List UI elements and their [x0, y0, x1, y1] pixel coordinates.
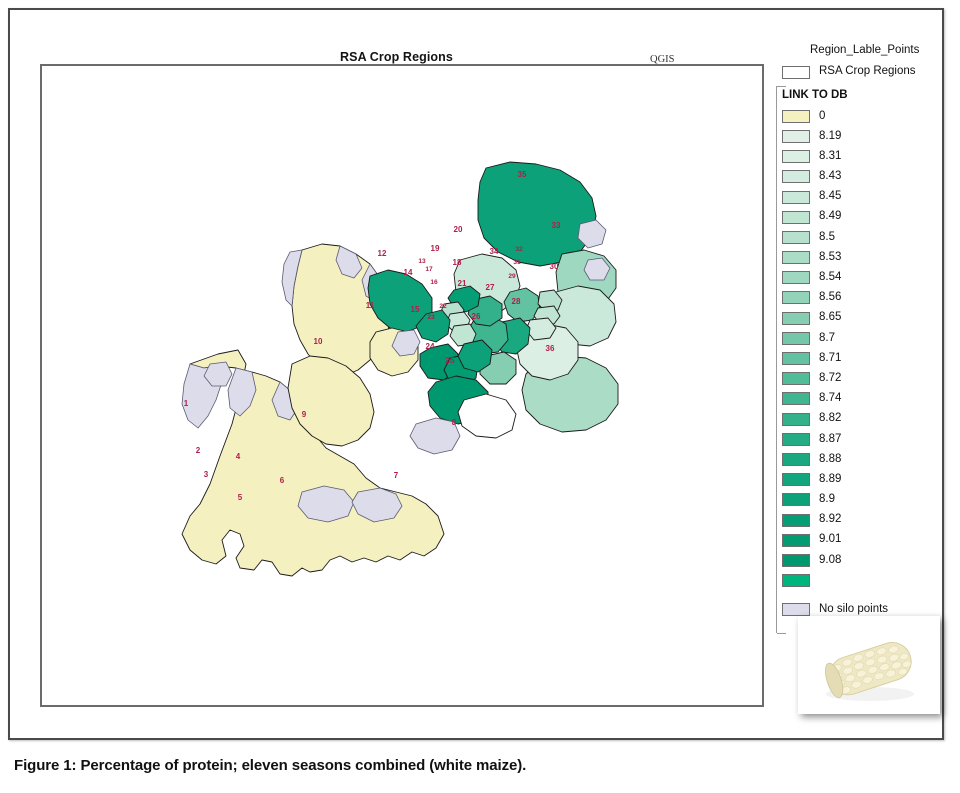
- region-number-label: 2: [196, 446, 201, 455]
- region-number-label: 27: [486, 283, 495, 292]
- legend-row-class[interactable]: 8.43: [782, 167, 956, 187]
- region-number-label: 9: [302, 410, 307, 419]
- region-number-label: 10: [314, 337, 323, 346]
- legend-label-class: 8.53: [819, 252, 841, 264]
- maize-cob-illustration: [798, 616, 940, 714]
- legend-label-class: 9.01: [819, 534, 841, 546]
- legend-label-class: 8.72: [819, 373, 841, 385]
- legend-label-class: 8.45: [819, 191, 841, 203]
- legend-label-class: 8.74: [819, 393, 841, 405]
- legend-label-class: 8.49: [819, 211, 841, 223]
- region-number-label: 14: [404, 268, 413, 277]
- legend-row-class[interactable]: 8.88: [782, 449, 956, 469]
- legend-classification-header: LINK TO DB: [782, 89, 956, 101]
- region-number-label: 21: [458, 279, 467, 288]
- legend-row-class[interactable]: 8.7: [782, 328, 956, 348]
- legend-row-class[interactable]: 9.01: [782, 530, 956, 550]
- legend-label-rsa-crop-regions: RSA Crop Regions: [819, 66, 916, 78]
- legend-row-class[interactable]: 9.08: [782, 550, 956, 570]
- map-legend: Region_Lable_Points RSA Crop Regions LIN…: [776, 44, 956, 620]
- legend-title: Region_Lable_Points: [810, 44, 956, 56]
- legend-row-class[interactable]: 8.87: [782, 429, 956, 449]
- south-africa-crop-regions-map[interactable]: .p{stroke:#1a1a1a;stroke-width:.9;stroke…: [40, 64, 764, 707]
- legend-row-class[interactable]: 8.5: [782, 227, 956, 247]
- region-number-label: 28: [512, 297, 521, 306]
- region-number-label: 22: [439, 303, 447, 310]
- legend-tree-connector: [776, 86, 787, 633]
- region-number-label: 30: [550, 262, 559, 271]
- region-number-label: 7: [394, 471, 399, 480]
- region-number-label: 17: [425, 266, 433, 273]
- region-number-label: 8: [452, 418, 457, 427]
- legend-label-class: 8.92: [819, 514, 841, 526]
- region-number-label: 29: [508, 273, 516, 280]
- region-number-label: 18: [453, 258, 462, 267]
- region-number-label: 36: [546, 344, 555, 353]
- legend-row-class[interactable]: [782, 571, 956, 591]
- region-number-label: 6: [280, 476, 285, 485]
- legend-row-class[interactable]: 8.54: [782, 268, 956, 288]
- legend-row-class[interactable]: 8.74: [782, 389, 956, 409]
- region-number-label: 35: [518, 170, 527, 179]
- legend-label-class: 8.9: [819, 494, 835, 506]
- legend-label-class: 8.56: [819, 292, 841, 304]
- region-number-label: 24: [426, 342, 435, 351]
- legend-row-class[interactable]: 0: [782, 106, 956, 126]
- region-number-label: 31: [513, 259, 521, 266]
- legend-class-list: 08.198.318.438.458.498.58.538.548.568.65…: [776, 106, 956, 591]
- region-number-label: 1: [184, 399, 189, 408]
- region-number-label: 5: [238, 493, 243, 502]
- legend-row-class[interactable]: 8.82: [782, 409, 956, 429]
- legend-label-class: 8.43: [819, 171, 841, 183]
- legend-label-class: 8.82: [819, 413, 841, 425]
- region-number-label: 25: [446, 356, 455, 365]
- legend-label-class: 8.31: [819, 151, 841, 163]
- map-title: RSA Crop Regions: [340, 50, 453, 64]
- legend-row-class[interactable]: 8.71: [782, 348, 956, 368]
- figure-page: RSA Crop Regions QGIS .p{stroke:#1a1a1a;…: [8, 8, 944, 740]
- legend-label-class: 8.19: [819, 131, 841, 143]
- legend-row-class[interactable]: 8.89: [782, 470, 956, 490]
- white-maize-cob-photo: [798, 616, 940, 714]
- legend-label-class: 9.08: [819, 555, 841, 567]
- legend-label-class: 8.65: [819, 312, 841, 324]
- legend-label-class: 8.54: [819, 272, 841, 284]
- legend-label-no-silo-points: No silo points: [819, 604, 888, 616]
- region-number-label: 12: [378, 249, 387, 258]
- legend-label-class: 8.87: [819, 434, 841, 446]
- region-number-label: 11: [366, 301, 375, 310]
- region-number-label: 20: [454, 225, 463, 234]
- region-number-label: 32: [515, 246, 523, 253]
- legend-row-class[interactable]: 8.19: [782, 126, 956, 146]
- legend-label-class: 8.88: [819, 454, 841, 466]
- region-number-label: 13: [418, 258, 426, 265]
- legend-row-class[interactable]: 8.65: [782, 308, 956, 328]
- legend-label-class: 0: [819, 111, 825, 123]
- legend-row-class[interactable]: 8.31: [782, 147, 956, 167]
- legend-row-class[interactable]: 8.53: [782, 248, 956, 268]
- region-number-label: 23: [427, 314, 435, 321]
- legend-row-class[interactable]: 8.56: [782, 288, 956, 308]
- region-number-label: 19: [431, 244, 440, 253]
- region-number-label: 3: [204, 470, 209, 479]
- legend-row-class[interactable]: 8.72: [782, 369, 956, 389]
- legend-row-class[interactable]: 8.45: [782, 187, 956, 207]
- region-number-label: 34: [490, 247, 499, 256]
- legend-row-layer[interactable]: RSA Crop Regions: [782, 62, 956, 82]
- legend-label-class: 8.71: [819, 353, 841, 365]
- region-number-label: 4: [236, 452, 241, 461]
- legend-row-class[interactable]: 8.92: [782, 510, 956, 530]
- region-number-label: 33: [552, 221, 561, 230]
- figure-caption: Figure 1: Percentage of protein; eleven …: [14, 757, 526, 774]
- legend-label-class: 8.7: [819, 333, 835, 345]
- legend-row-class[interactable]: 8.49: [782, 207, 956, 227]
- legend-swatch-rsa-crop-regions: [782, 66, 810, 79]
- region-number-label: 15: [411, 305, 420, 314]
- region-number-label: 16: [430, 279, 438, 286]
- legend-row-class[interactable]: 8.9: [782, 490, 956, 510]
- legend-label-class: 8.89: [819, 474, 841, 486]
- region-number-label: 26: [472, 312, 481, 321]
- legend-label-class: 8.5: [819, 232, 835, 244]
